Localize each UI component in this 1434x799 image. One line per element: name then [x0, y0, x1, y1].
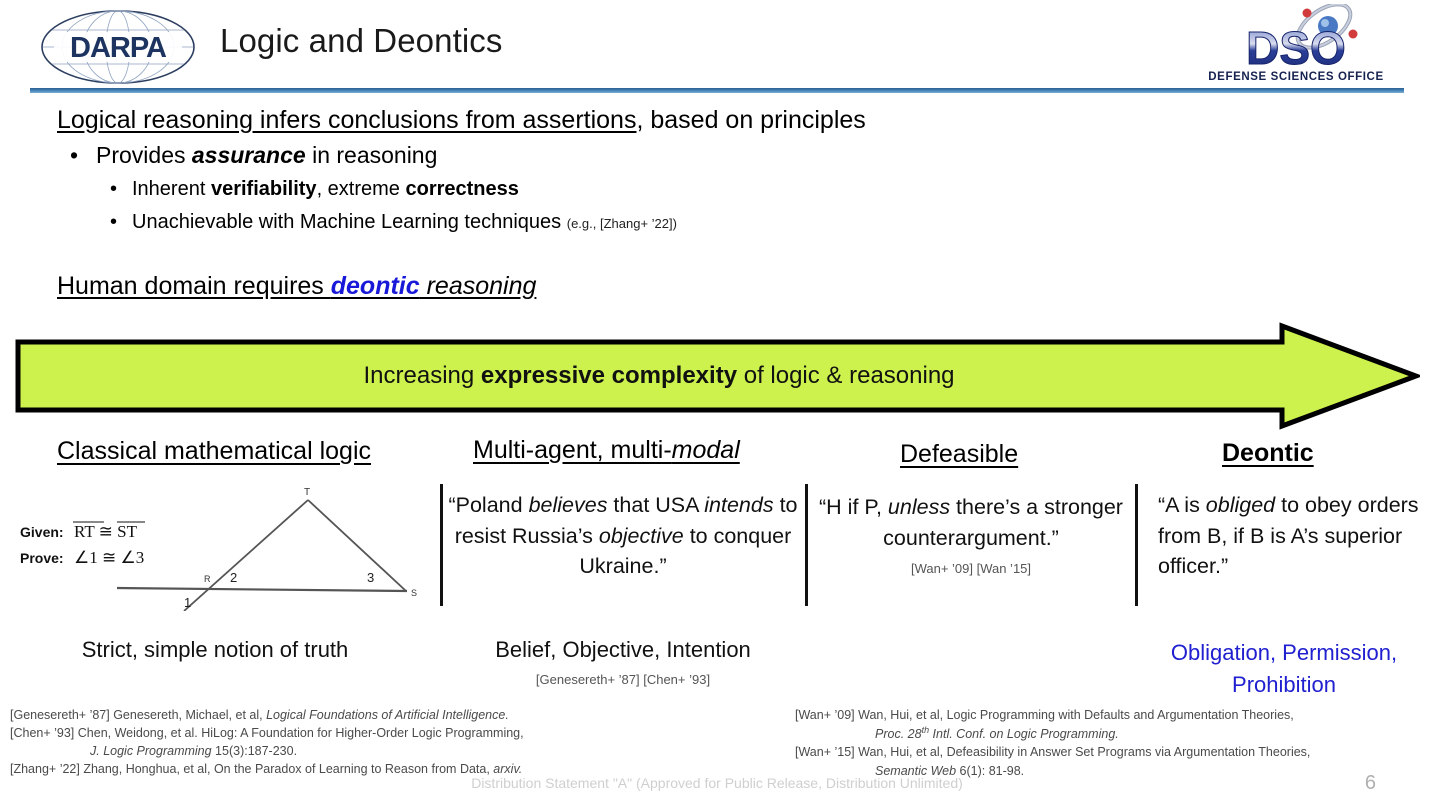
column-heading-defeasible: Defeasible — [900, 440, 1018, 469]
lead2-deontic-emphasis: deontic — [331, 272, 420, 300]
lead1-underlined-text: Logical reasoning infers conclusions fro… — [57, 106, 636, 134]
column-heading-deontic: Deontic — [1222, 439, 1314, 468]
references-left: [Genesereth+ ’87] Genesereth, Michael, e… — [10, 706, 630, 779]
reference-text: Wan, Hui, et al, Logic Programming with … — [855, 708, 1294, 722]
page-number: 6 — [1365, 772, 1376, 795]
lead1-rest-text: , based on principles — [636, 106, 865, 134]
bullet-level1-assurance: •Provides assurance in reasoning — [70, 142, 437, 169]
arrow-label-strong: expressive complexity — [481, 362, 737, 389]
reference-key: [Wan+ ’15] — [795, 745, 855, 759]
dso-logo-icon: DSO DEFENSE SCIENCES OFFICE — [1206, 4, 1386, 86]
bullet1-emphasis: assurance — [192, 142, 306, 168]
column-divider-1 — [440, 484, 443, 606]
reference-text: Chen, Weidong, et al. HiLog: A Foundatio… — [74, 726, 523, 740]
bullet2a-mid: , extreme — [317, 178, 406, 200]
quote-fragment-0: “A is — [1158, 493, 1206, 517]
slide-header: DARPA Logic and Deontics — [0, 0, 1434, 95]
reference-key: [Wan+ ’09] — [795, 708, 855, 722]
lead-statement-1: Logical reasoning infers conclusions fro… — [57, 105, 866, 136]
dso-logo-subtitle: DEFENSE SCIENCES OFFICE — [1208, 71, 1383, 83]
lead2-post: reasoning — [420, 272, 537, 300]
bullet2a-pre: Inherent — [132, 178, 211, 200]
bullet-dot-icon: • — [110, 178, 132, 201]
geo-vertex-R: R — [204, 574, 211, 584]
quote-defeasible: “H if P, unless there’s a stronger count… — [812, 492, 1130, 553]
quote-deontic: “A is obliged to obey orders from B, if … — [1158, 490, 1428, 582]
quote-fragment-1: obliged — [1206, 493, 1275, 517]
dso-logo-text: DSO — [1246, 22, 1346, 74]
geo-angle-3: 3 — [367, 570, 374, 585]
arrow-label: Increasing expressive complexity of logi… — [14, 322, 1304, 430]
bullet1-pre: Provides — [96, 142, 192, 168]
quote-fragment-0: “H if P, — [819, 495, 888, 519]
geo-given-label: Given: — [20, 524, 64, 540]
geo-angle-1: 1 — [184, 595, 191, 610]
quote-fragment-0: “Poland — [448, 493, 528, 517]
page-title: Logic and Deontics — [220, 22, 502, 60]
bullet2a-bold-2: correctness — [405, 178, 518, 200]
caption-multiagent: Belief, Objective, Intention — [450, 637, 796, 663]
bullet-dot-icon: • — [70, 142, 96, 169]
reference-line: [Genesereth+ ’87] Genesereth, Michael, e… — [10, 706, 630, 724]
quote-multiagent: “Poland believes that USA intends to res… — [448, 490, 798, 582]
darpa-logo-icon: DARPA — [38, 8, 198, 86]
geo-prove-value: ∠1 ≅ ∠3 — [74, 548, 144, 567]
quote-fragment-1: believes — [529, 493, 608, 517]
column-heading-multiagent: Multi-agent, multi-modal — [473, 436, 740, 465]
bullet-level2-verifiability: •Inherent verifiability, extreme correct… — [110, 178, 519, 201]
reference-tail: 15(3):187-230. — [212, 744, 297, 758]
slide-root: DARPA Logic and Deontics — [0, 0, 1434, 799]
reference-text: Wan, Hui, et al, Defeasibility in Answer… — [855, 745, 1311, 759]
reference-text: Genesereth, Michael, et al, — [110, 708, 266, 722]
column-heading-multiagent-text: Multi-agent, multi- — [473, 436, 672, 464]
bullet-dot-icon: • — [110, 211, 132, 234]
reference-line: [Chen+ ’93] Chen, Weidong, et al. HiLog:… — [10, 724, 630, 742]
reference-title: Proc. 28th Intl. Conf. on Logic Programm… — [875, 727, 1119, 741]
arrow-label-post: of logic & reasoning — [737, 362, 954, 389]
quote-fragment-2: that USA — [607, 493, 704, 517]
lead-statement-2: Human domain requires deontic reasoning — [57, 272, 536, 301]
reference-line: J. Logic Programming 15(3):187-230. — [10, 742, 630, 760]
reference-line: Proc. 28th Intl. Conf. on Logic Programm… — [795, 724, 1395, 743]
reference-line: [Wan+ ’15] Wan, Hui, et al, Defeasibilit… — [795, 743, 1395, 761]
references-right: [Wan+ ’09] Wan, Hui, et al, Logic Progra… — [795, 706, 1395, 780]
caption-deontic: Obligation, Permission, Prohibition — [1136, 637, 1432, 701]
bullet2a-bold-1: verifiability — [211, 178, 317, 200]
column-heading-classical: Classical mathematical logic — [57, 437, 371, 466]
column-divider-2 — [805, 484, 808, 606]
geometry-proof-diagram-icon: Given: Prove: RT ≅ ST ∠1 ≅ ∠3 T R S 1 2 … — [12, 483, 432, 611]
lead2-pre: Human domain requires — [57, 272, 331, 300]
bullet1-post: in reasoning — [306, 142, 438, 168]
header-divider — [30, 88, 1404, 93]
reference-line: [Wan+ ’09] Wan, Hui, et al, Logic Progra… — [795, 706, 1395, 724]
caption-multiagent-citation: [Genesereth+ ’87] [Chen+ ’93] — [450, 672, 796, 687]
reference-title: Logical Foundations of Artificial Intell… — [266, 708, 509, 722]
reference-key: [Genesereth+ ’87] — [10, 708, 110, 722]
column-heading-multiagent-italic: modal — [672, 436, 740, 464]
quote-fragment-3: intends — [704, 493, 773, 517]
geo-vertex-T: T — [304, 487, 310, 498]
reference-key: [Chen+ ’93] — [10, 726, 74, 740]
bullet-level2-unachievable: •Unachievable with Machine Learning tech… — [110, 211, 677, 234]
darpa-logo-text: DARPA — [70, 32, 167, 64]
quote-fragment-1: unless — [888, 495, 950, 519]
geo-vertex-S: S — [411, 588, 417, 598]
bullet2b-citation: (e.g., [Zhang+ ’22]) — [567, 216, 677, 231]
quote-fragment-5: objective — [599, 524, 684, 548]
geo-given-value: RT ≅ ST — [74, 522, 138, 541]
geo-angle-2: 2 — [230, 570, 237, 585]
distribution-statement: Distribution Statement "A" (Approved for… — [0, 775, 1434, 791]
caption-classical: Strict, simple notion of truth — [20, 637, 410, 663]
quote-defeasible-citation: [Wan+ ’09] [Wan ’15] — [812, 561, 1130, 576]
bullet2b-text: Unachievable with Machine Learning techn… — [132, 211, 561, 233]
arrow-label-pre: Increasing — [363, 362, 480, 389]
reference-title: J. Logic Programming — [90, 744, 212, 758]
column-divider-3 — [1135, 484, 1138, 606]
geo-prove-label: Prove: — [20, 550, 64, 566]
increasing-complexity-arrow: Increasing expressive complexity of logi… — [14, 322, 1420, 430]
